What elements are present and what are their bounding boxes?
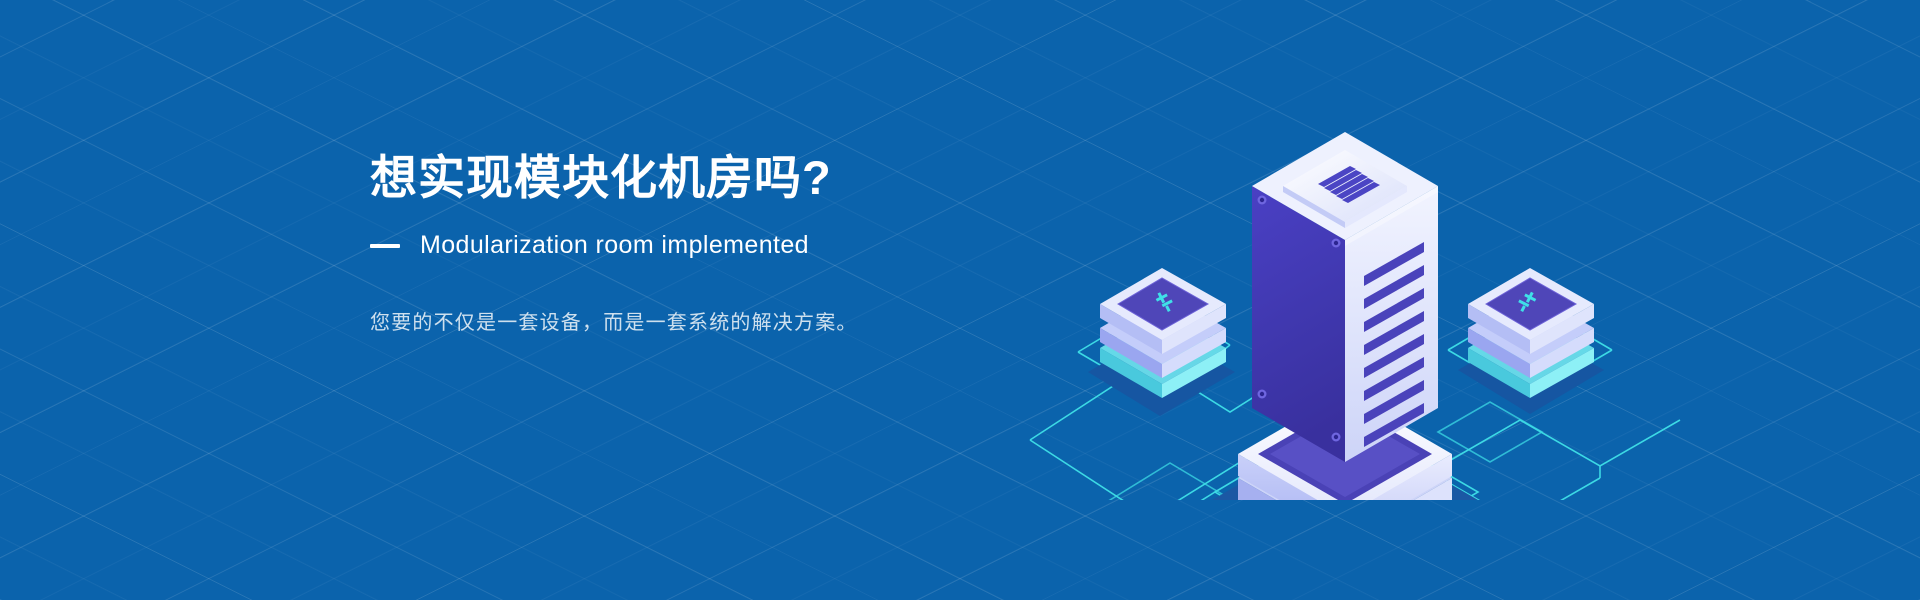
hero-banner: 想实现模块化机房吗? Modularization room implement… [0,0,1920,600]
isometric-server-illustration [1000,80,1700,500]
server-tower [1252,132,1438,462]
dash-icon [370,244,400,248]
banner-subtitle: Modularization room implemented [420,231,809,260]
